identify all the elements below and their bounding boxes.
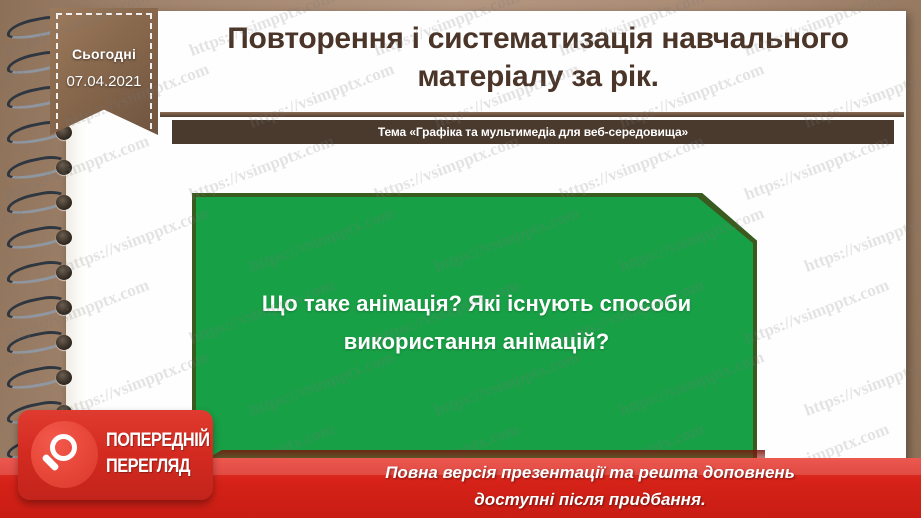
preview-badge-line1: ПОПЕРЕДНІЙ	[106, 428, 192, 454]
footer-message-line1: Повна версія презентації та решта доповн…	[290, 459, 890, 486]
spiral-ring	[6, 333, 78, 353]
spiral-hole	[56, 230, 72, 245]
spiral-hole	[56, 370, 72, 385]
spiral-ring	[6, 263, 78, 283]
ribbon-date-value: 07.04.2021	[50, 73, 158, 90]
spiral-ring	[6, 368, 78, 388]
question-box: Що таке анімація? Які існують способи ви…	[192, 193, 757, 465]
spiral-ring	[6, 228, 78, 248]
spiral-ring	[6, 158, 78, 178]
magnifier-lens-icon	[50, 434, 77, 461]
spiral-hole	[56, 335, 72, 350]
spiral-hole	[56, 160, 72, 175]
spiral-hole	[56, 195, 72, 210]
page-title: Повторення і систематизація навчального …	[168, 20, 908, 96]
slide-canvas: Сьогодні 07.04.2021 Повторення і система…	[0, 0, 921, 518]
footer-message-line2: доступні після придбання.	[290, 486, 890, 513]
spiral-ring	[6, 298, 78, 318]
footer-message: Повна версія презентації та решта доповн…	[290, 459, 890, 513]
preview-badge-text: ПОПЕРЕДНІЙ ПЕРЕГЛЯД	[106, 428, 192, 480]
preview-badge-line2: ПЕРЕГЛЯД	[106, 454, 192, 480]
magnifier-icon	[31, 421, 98, 488]
question-text: Що таке анімація? Які існують способи ви…	[222, 285, 731, 361]
subtitle-bar: Тема «Графіка та мультимедіа для веб-сер…	[172, 120, 894, 144]
preview-badge[interactable]: ПОПЕРЕДНІЙ ПЕРЕГЛЯД	[18, 410, 213, 500]
spiral-hole	[56, 265, 72, 280]
spiral-hole	[56, 300, 72, 315]
spiral-ring	[6, 193, 78, 213]
ribbon-today-label: Сьогодні	[50, 46, 158, 62]
title-divider-rule	[160, 112, 904, 117]
